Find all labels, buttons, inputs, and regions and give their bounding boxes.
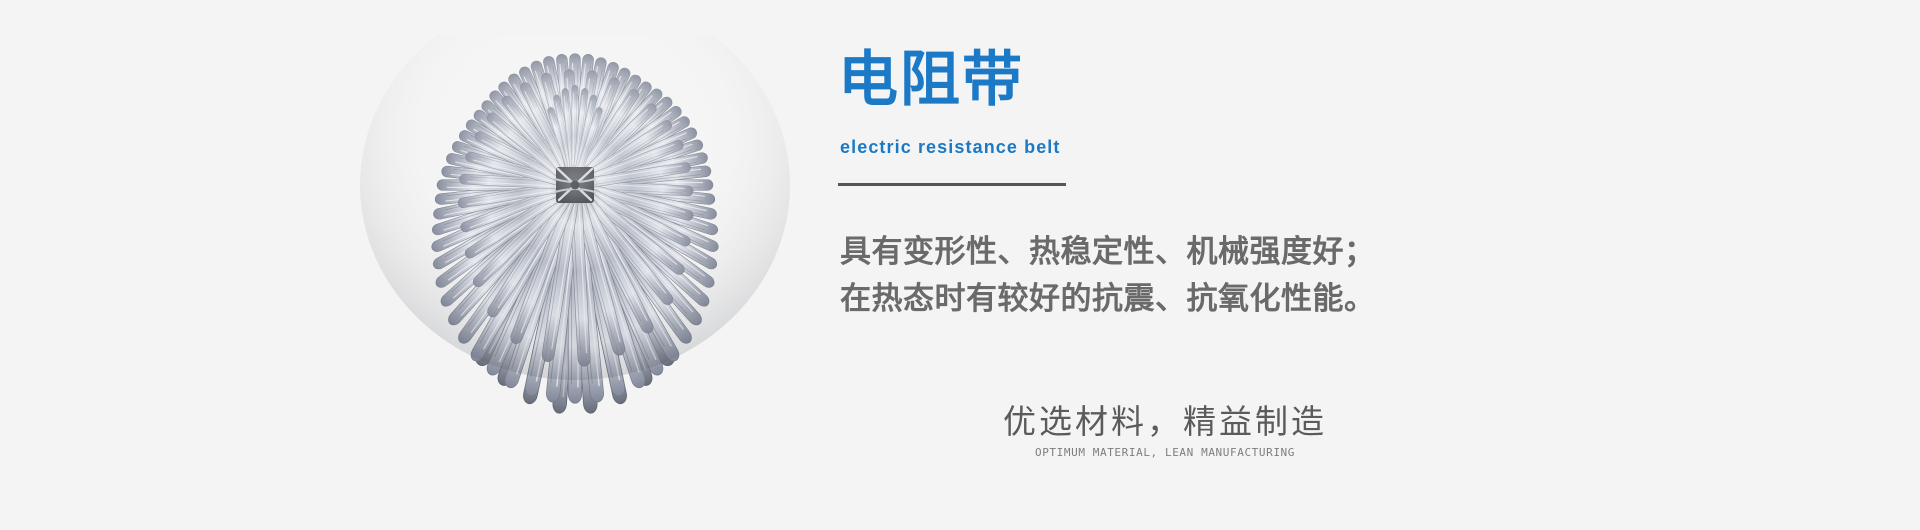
description-line-1: 具有变形性、热稳定性、机械强度好； — [840, 228, 1480, 275]
tagline-english: OPTIMUM MATERIAL, LEAN MANUFACTURING — [955, 446, 1375, 460]
product-image — [330, 35, 830, 455]
tagline-block: 优选材料，精益制造 OPTIMUM MATERIAL, LEAN MANUFAC… — [955, 400, 1375, 460]
description-line-2: 在热态时有较好的抗震、抗氧化性能。 — [840, 275, 1480, 322]
product-description: 具有变形性、热稳定性、机械强度好； 在热态时有较好的抗震、抗氧化性能。 — [840, 228, 1480, 322]
page-title: 电阻带 — [838, 47, 1024, 113]
tagline-chinese: 优选材料，精益制造 — [955, 400, 1375, 444]
page-subtitle: electric resistance belt — [840, 136, 1061, 158]
product-banner: 电阻带 electric resistance belt 具有变形性、热稳定性、… — [0, 0, 1920, 530]
title-divider — [838, 183, 1066, 186]
banner-text-column: 电阻带 electric resistance belt 具有变形性、热稳定性、… — [838, 0, 1838, 530]
product-core-hub — [555, 167, 595, 203]
